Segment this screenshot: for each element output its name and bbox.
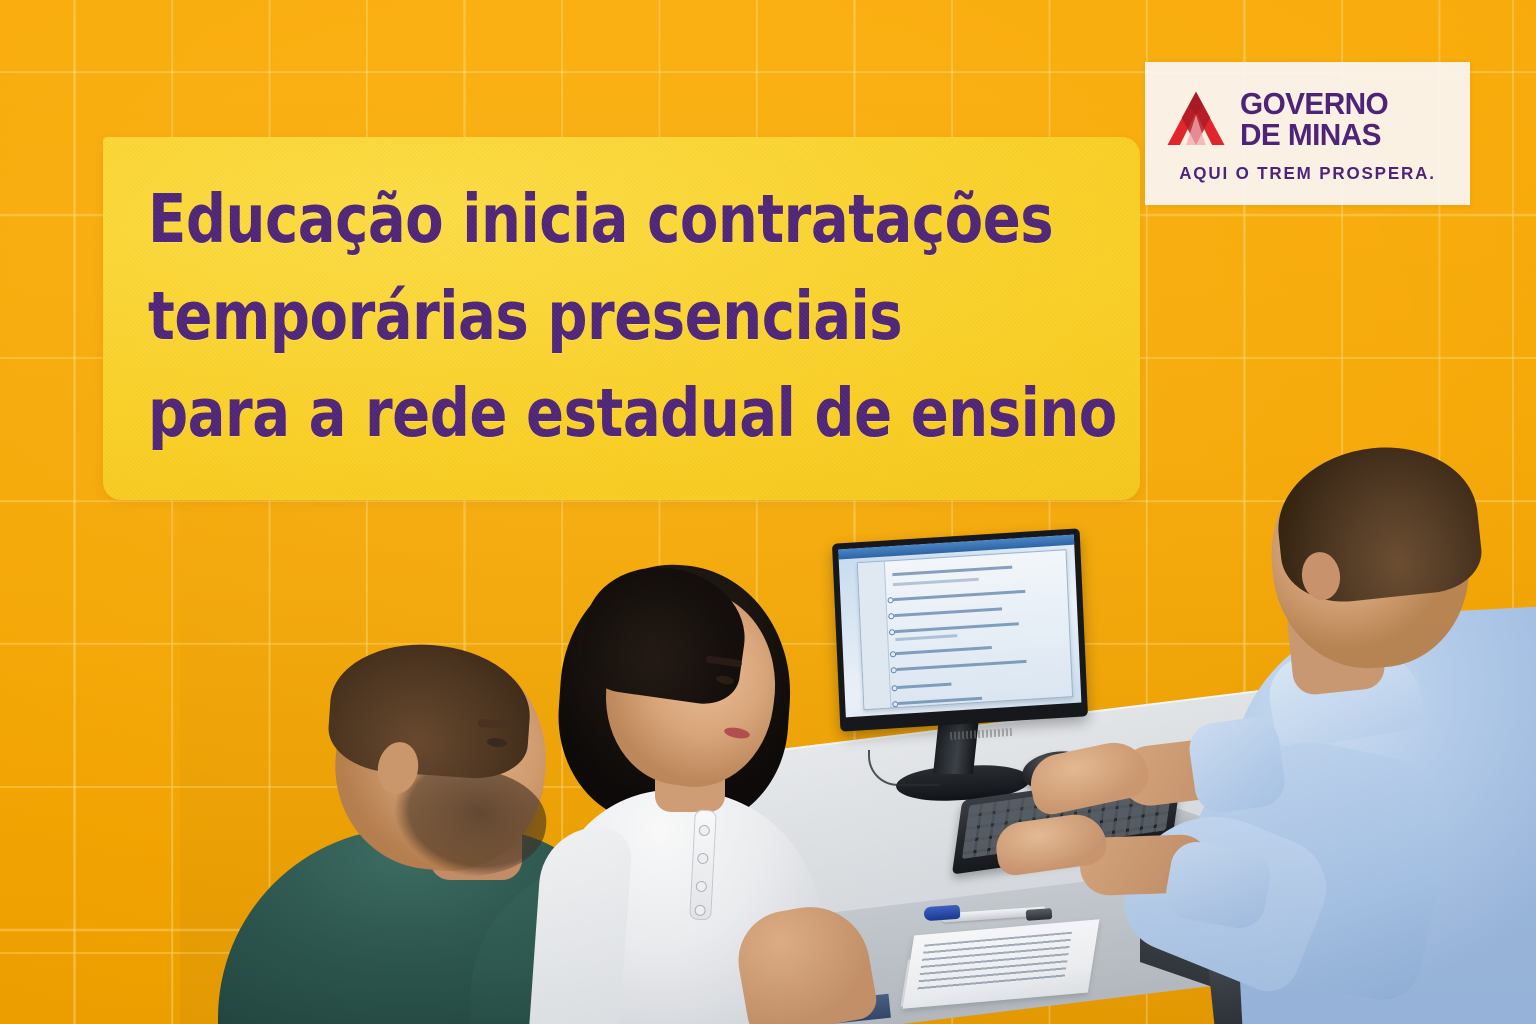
headline-text: Educação inicia contratações temporárias…: [148, 171, 1052, 462]
logo-word-line-2: DE MINAS: [1240, 119, 1388, 150]
logo-tagline: AQUI O TREM PROSPERA.: [1150, 163, 1465, 184]
headline-panel: Educação inicia contratações temporárias…: [103, 137, 1140, 500]
governo-de-minas-triangle-mark: [1165, 88, 1227, 150]
headline-line-2: temporárias presenciais: [148, 268, 1052, 365]
headline-line-1: Educação inicia contratações: [148, 171, 1052, 268]
logo-primary-row: GOVERNO DE MINAS: [1145, 88, 1470, 150]
headline-line-3: para a rede estadual de ensino: [148, 365, 1052, 462]
governo-de-minas-logo: GOVERNO DE MINAS AQUI O TREM PROSPERA.: [1145, 62, 1470, 205]
logo-word-line-1: GOVERNO: [1240, 88, 1388, 119]
logo-wordmark: GOVERNO DE MINAS: [1240, 88, 1388, 150]
banner-canvas: Educação inicia contratações temporárias…: [0, 0, 1536, 1024]
